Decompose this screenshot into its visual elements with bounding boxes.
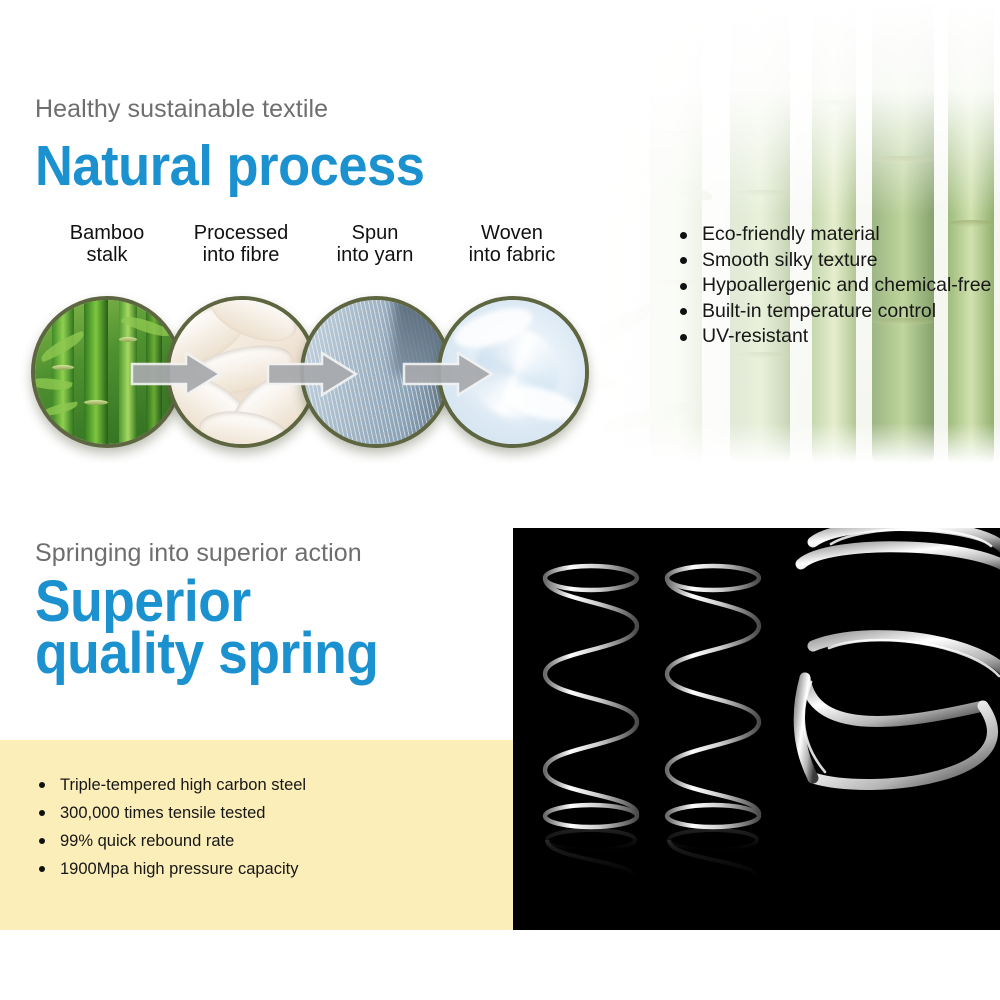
list-item: 300,000 times tensile tested [30,799,306,827]
superior-spring-panel: Springing into superior action Superior … [0,463,1000,1000]
process-label-woven-into-fabric: Woven into fabric [437,222,587,267]
natural-eyebrow: Healthy sustainable textile [35,95,328,124]
label-line-1: Spun [300,222,450,244]
label-line-1: Processed [166,222,316,244]
process-arrow-3 [402,350,494,398]
list-item: Eco-friendly material [672,222,991,248]
process-label-spun-into-yarn: Spun into yarn [300,222,450,267]
label-line-2: stalk [32,244,182,266]
process-step-labels: Bamboo stalk Processed into fibre Spun i… [0,222,640,280]
list-item: 99% quick rebound rate [30,827,306,855]
label-line-1: Bamboo [32,222,182,244]
label-line-2: into fibre [166,244,316,266]
spring-eyebrow: Springing into superior action [35,539,362,568]
photo-top-fade [440,0,1000,215]
list-item: Hypoallergenic and chemical-free [672,273,991,299]
process-arrow-1 [130,350,222,398]
natural-page-title: Natural process [35,133,424,199]
natural-process-panel: Healthy sustainable textile Natural proc… [0,0,1000,463]
spring-page-title: Superior quality spring [35,576,467,680]
list-item: 1900Mpa high pressure capacity [30,855,306,883]
list-item: UV-resistant [672,324,991,350]
list-item: Smooth silky texture [672,248,991,274]
list-item: Triple-tempered high carbon steel [30,771,306,799]
process-arrow-2 [266,350,358,398]
bamboo-feature-list: Eco-friendly material Smooth silky textu… [672,222,991,350]
label-line-1: Woven [437,222,587,244]
list-item: Built-in temperature control [672,299,991,325]
spring-spec-list: Triple-tempered high carbon steel 300,00… [30,771,306,883]
chrome-spring-photo [513,528,1000,930]
process-label-processed-into-fibre: Processed into fibre [166,222,316,267]
process-flow-diagram [0,290,640,463]
process-label-bamboo-stalk: Bamboo stalk [32,222,182,267]
label-line-2: into yarn [300,244,450,266]
spring-title-line-2: quality spring [35,628,467,680]
label-line-2: into fabric [437,244,587,266]
